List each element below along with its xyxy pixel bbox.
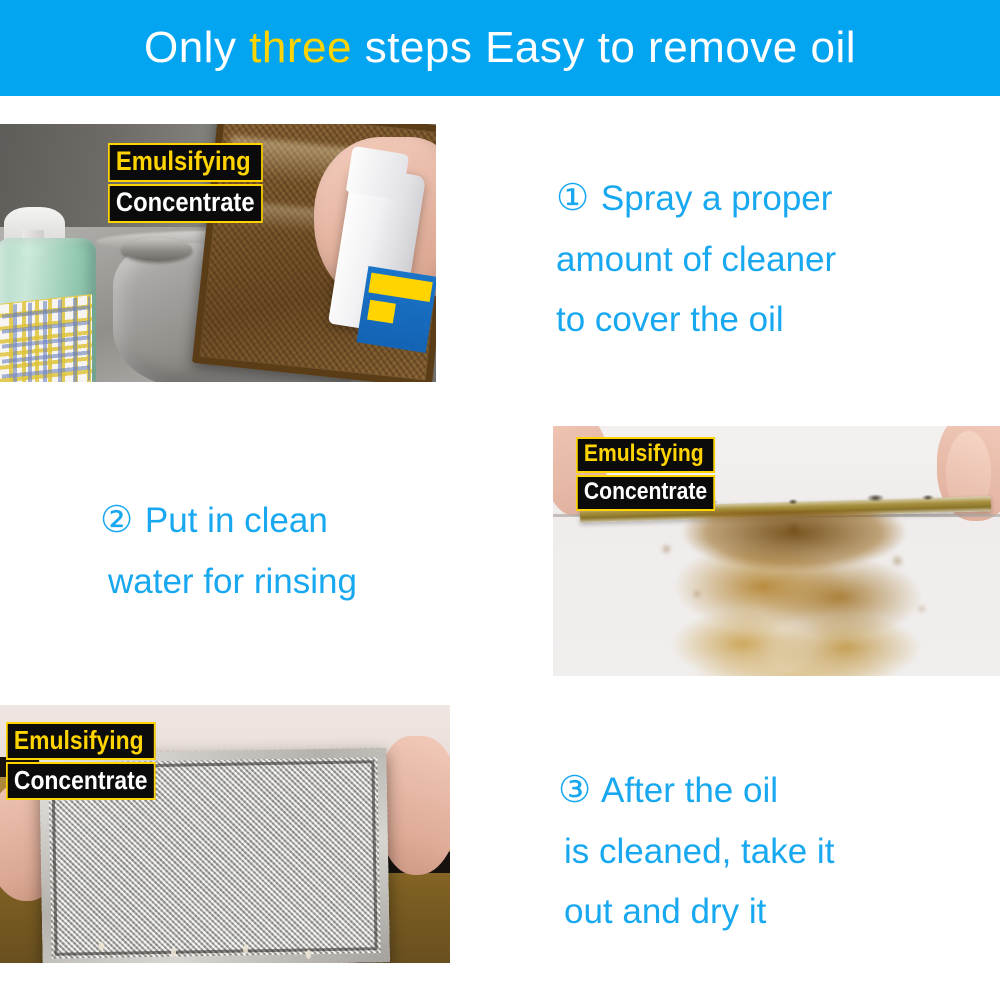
step-3-line-2: is cleaned, take it bbox=[558, 822, 834, 882]
step-3-text: ③ After the oil is cleaned, take it out … bbox=[558, 758, 834, 942]
step-2-text: ② Put in clean water for rinsing bbox=[100, 488, 357, 612]
spray-bottle-nozzle bbox=[346, 146, 409, 201]
badge-line-1: Emulsifying bbox=[6, 722, 155, 760]
step-3-line-3: out and dry it bbox=[558, 882, 834, 942]
badge-line-2: Concentrate bbox=[6, 762, 155, 800]
badge-line-2: Concentrate bbox=[576, 475, 715, 511]
right-hand bbox=[378, 736, 450, 875]
oil-wisps bbox=[642, 516, 946, 666]
spray-bottle-label bbox=[356, 266, 436, 353]
badge-line-1: Emulsifying bbox=[108, 143, 262, 182]
product-badge-2: Emulsifying Concentrate bbox=[576, 437, 734, 511]
sink-faucet-base bbox=[122, 238, 192, 261]
product-badge-3: Emulsifying Concentrate bbox=[6, 722, 176, 800]
water-drip bbox=[171, 948, 176, 957]
banner-text-before: Only bbox=[144, 23, 249, 72]
water-drip bbox=[243, 945, 248, 954]
step-1-line-1: ① Spray a proper bbox=[556, 166, 836, 230]
step-1-line-1-text: Spray a proper bbox=[601, 179, 833, 218]
badge-line-2: Concentrate bbox=[108, 184, 262, 223]
header-banner: Only three steps Easy to remove oil bbox=[0, 0, 1000, 96]
step-2-line-1-text: Put in clean bbox=[145, 501, 328, 540]
step-1-line-3: to cover the oil bbox=[556, 290, 836, 350]
step-3-number: ③ bbox=[558, 769, 593, 810]
step-2-number: ② bbox=[100, 499, 135, 540]
step-1-line-2: amount of cleaner bbox=[556, 230, 836, 290]
step-1-number: ① bbox=[556, 177, 591, 218]
step-3-line-1-text: After the oil bbox=[601, 771, 778, 810]
banner-text-after: steps Easy to remove oil bbox=[352, 23, 856, 72]
banner-title: Only three steps Easy to remove oil bbox=[144, 26, 856, 70]
banner-highlight-word: three bbox=[249, 23, 352, 72]
product-badge-1: Emulsifying Concentrate bbox=[108, 143, 284, 223]
step-2-line-1: ② Put in clean bbox=[100, 488, 357, 552]
badge-line-1: Emulsifying bbox=[576, 437, 715, 473]
step-1-text: ① Spray a proper amount of cleaner to co… bbox=[556, 166, 836, 350]
step-2-line-2: water for rinsing bbox=[100, 552, 357, 612]
step-3-line-1: ③ After the oil bbox=[558, 758, 834, 822]
soap-bottle-label bbox=[0, 295, 92, 382]
